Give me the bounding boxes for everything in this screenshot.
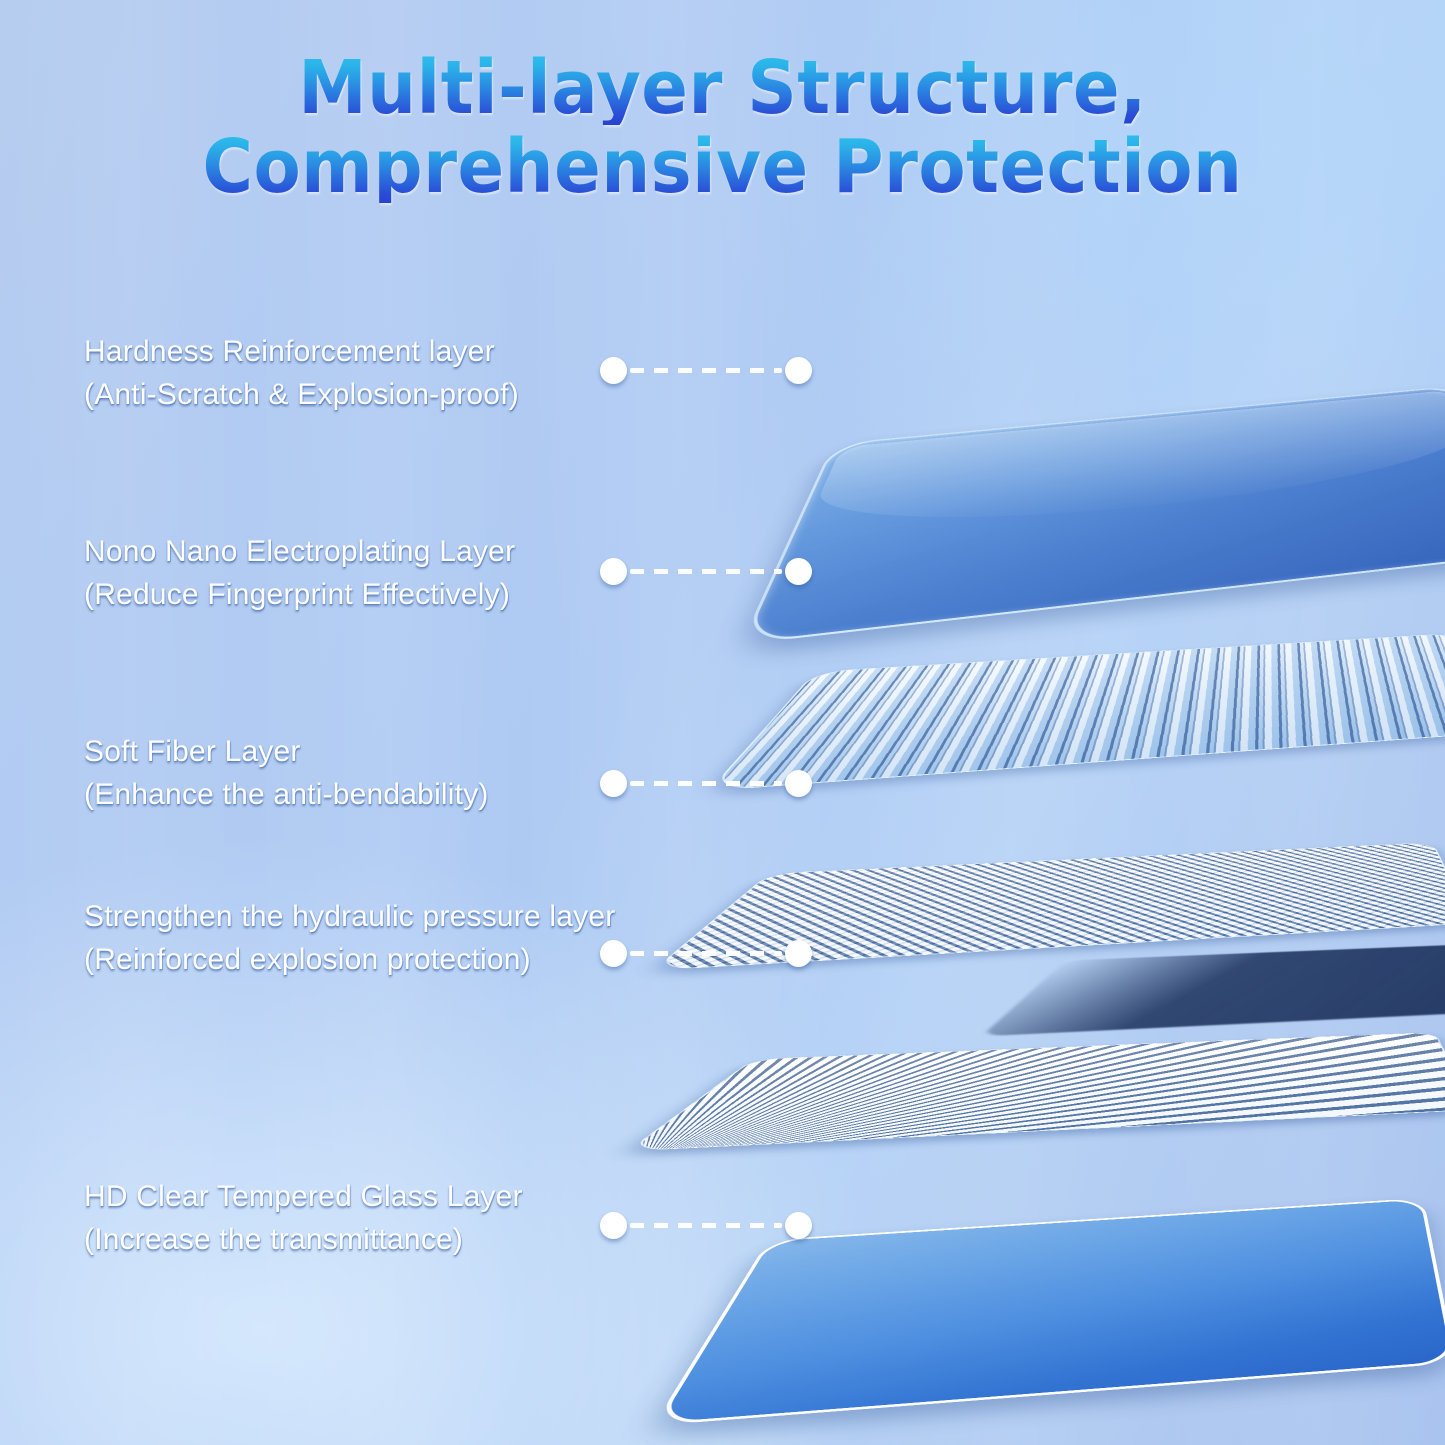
label-title-soft-fiber: Soft Fiber Layer (84, 731, 489, 774)
connector-dot-left-2 (600, 558, 627, 585)
page-title: Multi-layer Structure, Comprehensive Pro… (0, 52, 1445, 203)
product-infographic: Multi-layer Structure, Comprehensive Pro… (0, 0, 1445, 1445)
connector-dot-left-5 (600, 1212, 627, 1239)
label-hardness-reinforcement: Hardness Reinforcement layer (Anti-Scrat… (84, 331, 519, 416)
title-line-2: Comprehensive Protection (51, 131, 1395, 204)
label-detail-hardness-reinforcement: (Anti-Scratch & Explosion-proof) (84, 374, 519, 417)
layer-sheet-hydraulic-pressure (627, 1032, 1445, 1151)
label-hydraulic-pressure: Strengthen the hydraulic pressure layer … (84, 896, 615, 981)
label-title-nano-electroplating: Nono Nano Electroplating Layer (84, 531, 515, 574)
label-nano-electroplating: Nono Nano Electroplating Layer (Reduce F… (84, 531, 515, 616)
label-detail-soft-fiber: (Enhance the anti-bendability) (84, 774, 489, 817)
label-soft-fiber: Soft Fiber Layer (Enhance the anti-benda… (84, 731, 489, 816)
layer-sheet-nano-electroplating (708, 633, 1445, 791)
label-title-hd-tempered-glass: HD Clear Tempered Glass Layer (84, 1176, 523, 1219)
label-hd-tempered-glass: HD Clear Tempered Glass Layer (Increase … (84, 1176, 523, 1261)
label-detail-nano-electroplating: (Reduce Fingerprint Effectively) (84, 574, 515, 617)
layer-sheet-hd-tempered-glass (653, 1198, 1445, 1426)
label-detail-hydraulic-pressure: (Reinforced explosion protection) (84, 939, 615, 982)
label-title-hydraulic-pressure: Strengthen the hydraulic pressure layer (84, 896, 615, 939)
connector-dot-left-1 (600, 357, 627, 384)
title-line-1: Multi-layer Structure, (51, 52, 1395, 125)
layer-shadow-wedge (981, 944, 1445, 1036)
label-detail-hd-tempered-glass: (Increase the transmittance) (84, 1219, 523, 1262)
label-title-hardness-reinforcement: Hardness Reinforcement layer (84, 331, 519, 374)
layer-sheet-hardness-reinforcement (741, 385, 1445, 644)
layer-stack-illustration (700, 300, 1445, 1445)
connector-dot-left-3 (600, 770, 627, 797)
